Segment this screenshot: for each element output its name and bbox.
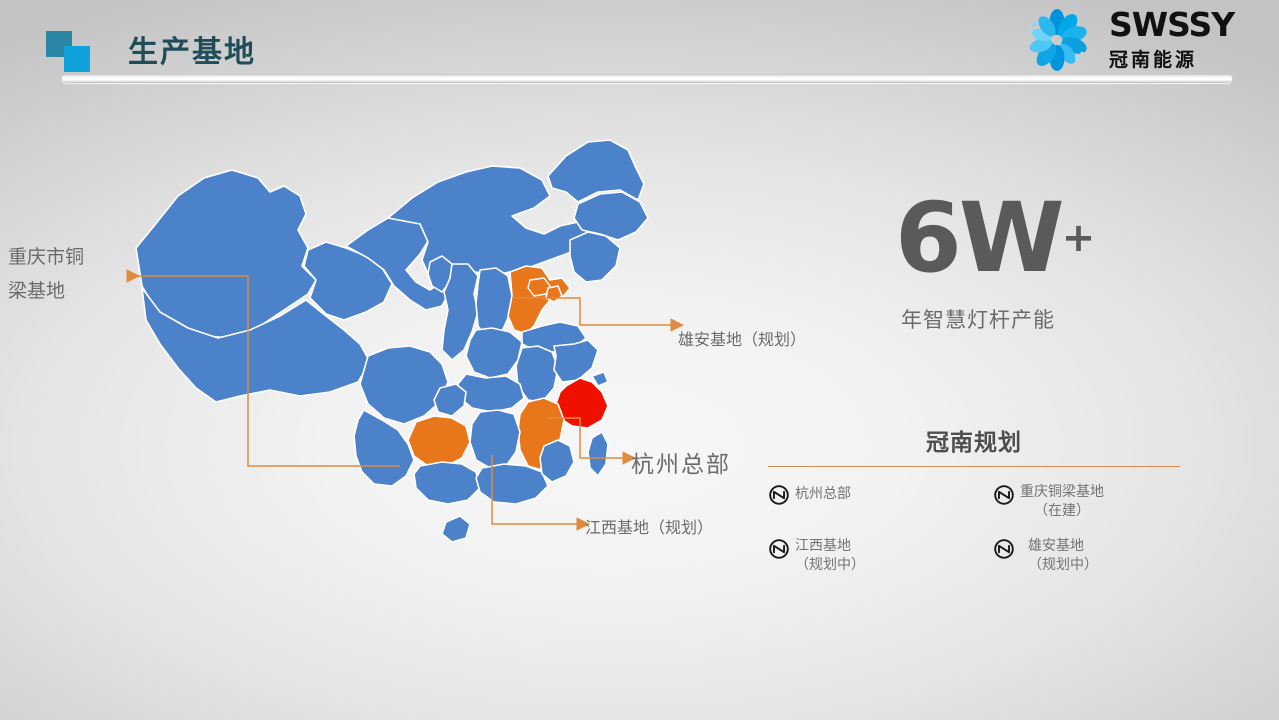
- plan-item-xiongan[interactable]: 雄安基地 （规划中）: [979, 537, 1180, 575]
- plan-item-chongqing[interactable]: 重庆铜梁基地 （在建）: [979, 483, 1180, 521]
- province-sichuan: [360, 346, 448, 424]
- stat-caption: 年智慧灯杆产能: [901, 304, 1225, 334]
- province-hainan: [442, 516, 470, 542]
- china-map: [130, 130, 690, 580]
- province-guizhou-highlight: [408, 416, 470, 466]
- plan-item-title: 重庆铜梁基地: [1020, 483, 1104, 502]
- province-hubei: [458, 374, 524, 412]
- capacity-stat: 6W+ 年智慧灯杆产能: [895, 190, 1225, 334]
- plan-item-title: 雄安基地: [1028, 537, 1098, 556]
- plan-item-status: （规划中）: [1028, 556, 1098, 575]
- province-liaoning: [570, 232, 620, 282]
- page-header: 生产基地 SWSSY 冠南能源: [0, 0, 1279, 95]
- city-tianjin: [546, 286, 562, 302]
- callout-chongqing-line2: 梁基地: [8, 274, 84, 308]
- plan-item-status: （在建）: [1020, 502, 1104, 521]
- callout-chongqing: 重庆市铜 梁基地: [8, 240, 84, 308]
- province-guangxi: [414, 462, 480, 504]
- stat-number-row: 6W+: [895, 190, 1225, 286]
- logo-brand-chinese: 冠南能源: [1109, 45, 1234, 72]
- plan-item-status: （规划中）: [795, 556, 865, 575]
- wave-circle-icon: [993, 484, 1015, 506]
- brand-logo: SWSSY 冠南能源: [1009, 6, 1259, 76]
- plan-panel: 冠南规划 杭州总部 重庆铜梁基地 （在建）: [768, 423, 1180, 575]
- plan-item-text: 杭州总部: [795, 483, 851, 504]
- plan-item-text: 江西基地 （规划中）: [795, 537, 865, 575]
- wave-circle-icon: [768, 484, 790, 506]
- plan-item-jiangxi[interactable]: 江西基地 （规划中）: [768, 537, 969, 575]
- province-taiwan: [588, 432, 608, 476]
- china-map-svg: [130, 130, 690, 580]
- province-fujian: [540, 440, 574, 482]
- stat-plus-sign: +: [1062, 215, 1096, 261]
- plan-item-title: 杭州总部: [795, 485, 851, 504]
- province-hunan: [470, 410, 520, 468]
- plan-item-text: 重庆铜梁基地 （在建）: [1020, 483, 1104, 521]
- callout-jiangxi: 江西基地（规划）: [585, 514, 713, 538]
- wave-circle-icon: [993, 538, 1015, 560]
- province-henan: [466, 328, 522, 378]
- plan-item-hangzhou[interactable]: 杭州总部: [768, 483, 969, 521]
- wave-circle-icon: [768, 538, 790, 560]
- province-guangdong: [476, 464, 548, 504]
- plan-item-list: 杭州总部 重庆铜梁基地 （在建） 江西基地 （规划中）: [768, 483, 1180, 575]
- plan-item-title: 江西基地: [795, 537, 865, 556]
- water-droplet-flower-emblem: [1009, 9, 1105, 71]
- page-title: 生产基地: [128, 27, 256, 71]
- callout-hangzhou: 杭州总部: [631, 445, 731, 479]
- stat-value: 6W: [895, 182, 1062, 294]
- decor-square-light: [64, 46, 90, 72]
- city-chongqing: [434, 384, 466, 416]
- province-heilongjiang: [548, 140, 644, 202]
- callout-chongqing-line1: 重庆市铜: [8, 240, 84, 274]
- callout-xiongan: 雄安基地（规划）: [678, 326, 806, 350]
- plan-panel-divider: [768, 466, 1180, 467]
- plan-item-text: 雄安基地 （规划中）: [1020, 537, 1098, 575]
- logo-brand-latin: SWSSY: [1109, 8, 1234, 41]
- plan-panel-title: 冠南规划: [768, 423, 1180, 457]
